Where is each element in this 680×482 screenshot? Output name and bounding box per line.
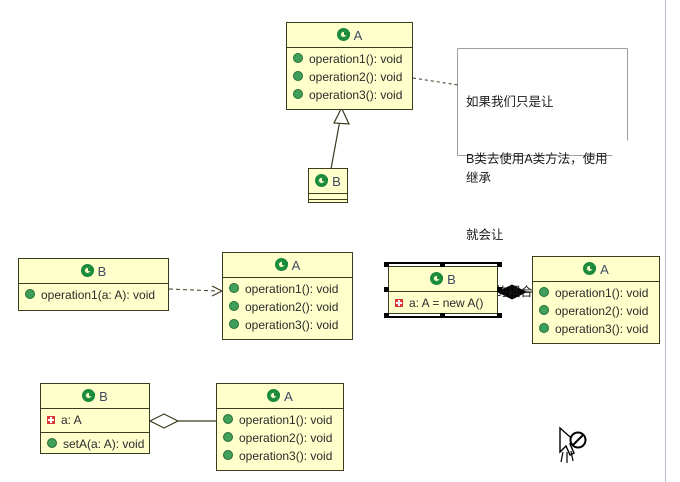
class-header: A bbox=[533, 257, 659, 282]
class-box-a-composition[interactable]: A operation1(): void operation2(): void … bbox=[532, 256, 660, 344]
editor-right-gutter bbox=[666, 0, 680, 482]
class-header: A bbox=[287, 23, 412, 48]
method-icon bbox=[293, 53, 303, 63]
class-header: B bbox=[41, 384, 149, 409]
class-name: A bbox=[292, 258, 301, 273]
note-line-3: 就会让 bbox=[466, 226, 619, 245]
method-icon bbox=[539, 287, 549, 297]
class-member[interactable]: operation1(): void bbox=[217, 411, 343, 429]
member-label: operation3(): void bbox=[309, 88, 402, 102]
class-member[interactable]: operation3(): void bbox=[533, 320, 659, 338]
class-member[interactable]: operation2(): void bbox=[223, 298, 352, 316]
class-header: A bbox=[223, 253, 352, 278]
class-header: B bbox=[389, 267, 497, 292]
class-name: B bbox=[98, 264, 107, 279]
method-icon bbox=[223, 450, 233, 460]
note-text: 如果我们只是让 B类去使用A类方法，使用继承 就会让 B和A的耦合性增强 bbox=[458, 49, 627, 155]
method-icon bbox=[293, 89, 303, 99]
class-icon bbox=[430, 272, 443, 285]
class-operations: operation1(): void operation2(): void op… bbox=[533, 282, 659, 341]
class-member[interactable]: operation2(): void bbox=[533, 302, 659, 320]
class-attributes: a: A bbox=[41, 409, 149, 433]
class-box-b-inheritance[interactable]: B bbox=[308, 168, 348, 203]
method-icon bbox=[223, 414, 233, 424]
aggregation-diamond bbox=[150, 414, 178, 428]
method-icon bbox=[229, 319, 239, 329]
method-icon bbox=[47, 438, 57, 448]
class-member[interactable]: operation3(): void bbox=[287, 86, 412, 104]
member-label: operation2(): void bbox=[309, 70, 402, 84]
member-label: operation1(a: A): void bbox=[41, 288, 155, 302]
class-name: B bbox=[447, 272, 456, 287]
class-operations bbox=[309, 200, 347, 205]
class-icon bbox=[583, 262, 596, 275]
class-member[interactable]: operation2(): void bbox=[287, 68, 412, 86]
class-box-a-aggregation[interactable]: A operation1(): void operation2(): void … bbox=[216, 383, 344, 471]
member-label: operation3(): void bbox=[555, 322, 648, 336]
method-icon bbox=[293, 71, 303, 81]
class-operations: operation1(): void operation2(): void op… bbox=[287, 48, 412, 107]
private-field-icon bbox=[47, 416, 55, 424]
class-box-a-inheritance[interactable]: A operation1(): void operation2(): void … bbox=[286, 22, 413, 110]
class-icon bbox=[81, 264, 94, 277]
class-member[interactable]: a: A = new A() bbox=[389, 294, 497, 312]
class-header: B bbox=[309, 169, 347, 194]
note-line-1: 如果我们只是让 bbox=[466, 93, 619, 112]
class-member[interactable]: setA(a: A): void bbox=[41, 435, 149, 453]
uml-class-diagram-canvas[interactable]: A --> 如果我们只是让 B类去使用A类方法，使用继承 就会让 B和A的耦合性… bbox=[0, 0, 680, 482]
member-label: operation1(): void bbox=[239, 413, 332, 427]
class-icon bbox=[82, 389, 95, 402]
class-member[interactable]: operation1(): void bbox=[287, 50, 412, 68]
method-icon bbox=[539, 305, 549, 315]
class-box-b-composition[interactable]: B a: A = new A() bbox=[388, 266, 498, 314]
class-member[interactable]: operation1(): void bbox=[223, 280, 352, 298]
member-label: operation2(): void bbox=[245, 300, 338, 314]
class-member[interactable]: operation2(): void bbox=[217, 429, 343, 447]
class-header: B bbox=[19, 259, 168, 284]
class-name: A bbox=[284, 389, 293, 404]
dependency-line bbox=[169, 289, 218, 291]
class-icon bbox=[337, 28, 350, 41]
class-name: A bbox=[354, 28, 363, 43]
class-icon bbox=[267, 389, 280, 402]
class-name: B bbox=[332, 174, 341, 189]
private-field-icon bbox=[395, 299, 403, 307]
method-icon bbox=[223, 432, 233, 442]
class-attributes: a: A = new A() bbox=[389, 292, 497, 315]
class-name: B bbox=[99, 389, 108, 404]
class-operations: setA(a: A): void bbox=[41, 433, 149, 456]
member-label: operation1(): void bbox=[309, 52, 402, 66]
member-label: a: A bbox=[61, 413, 82, 427]
class-operations: operation1(a: A): void bbox=[19, 284, 168, 307]
member-label: operation3(): void bbox=[239, 449, 332, 463]
method-icon bbox=[25, 289, 35, 299]
note-anchor-line bbox=[413, 78, 458, 85]
member-label: operation1(): void bbox=[245, 282, 338, 296]
class-box-b-dependency[interactable]: B operation1(a: A): void bbox=[18, 258, 169, 311]
method-icon bbox=[229, 301, 239, 311]
method-icon bbox=[229, 283, 239, 293]
note-line-2: B类去使用A类方法，使用继承 bbox=[466, 150, 619, 188]
class-operations: operation1(): void operation2(): void op… bbox=[223, 278, 352, 337]
uml-note[interactable]: 如果我们只是让 B类去使用A类方法，使用继承 就会让 B和A的耦合性增强 bbox=[458, 49, 627, 155]
class-name: A bbox=[600, 262, 609, 277]
class-member[interactable]: operation1(a: A): void bbox=[19, 286, 168, 304]
member-label: operation2(): void bbox=[239, 431, 332, 445]
class-member[interactable]: operation3(): void bbox=[217, 447, 343, 465]
class-header: A bbox=[217, 384, 343, 409]
member-label: operation3(): void bbox=[245, 318, 338, 332]
class-icon bbox=[315, 174, 328, 187]
member-label: setA(a: A): void bbox=[63, 437, 144, 451]
generalization-line bbox=[331, 120, 340, 169]
class-box-b-aggregation[interactable]: B a: A setA(a: A): void bbox=[40, 383, 150, 454]
class-member[interactable]: operation3(): void bbox=[223, 316, 352, 334]
method-icon bbox=[539, 323, 549, 333]
generalization-arrowhead bbox=[334, 108, 349, 124]
member-label: operation1(): void bbox=[555, 286, 648, 300]
member-label: operation2(): void bbox=[555, 304, 648, 318]
class-icon bbox=[275, 258, 288, 271]
class-box-a-dependency[interactable]: A operation1(): void operation2(): void … bbox=[222, 252, 353, 340]
class-operations: operation1(): void operation2(): void op… bbox=[217, 409, 343, 468]
class-member[interactable]: a: A bbox=[41, 411, 149, 429]
class-member[interactable]: operation1(): void bbox=[533, 284, 659, 302]
member-label: a: A = new A() bbox=[409, 296, 483, 310]
